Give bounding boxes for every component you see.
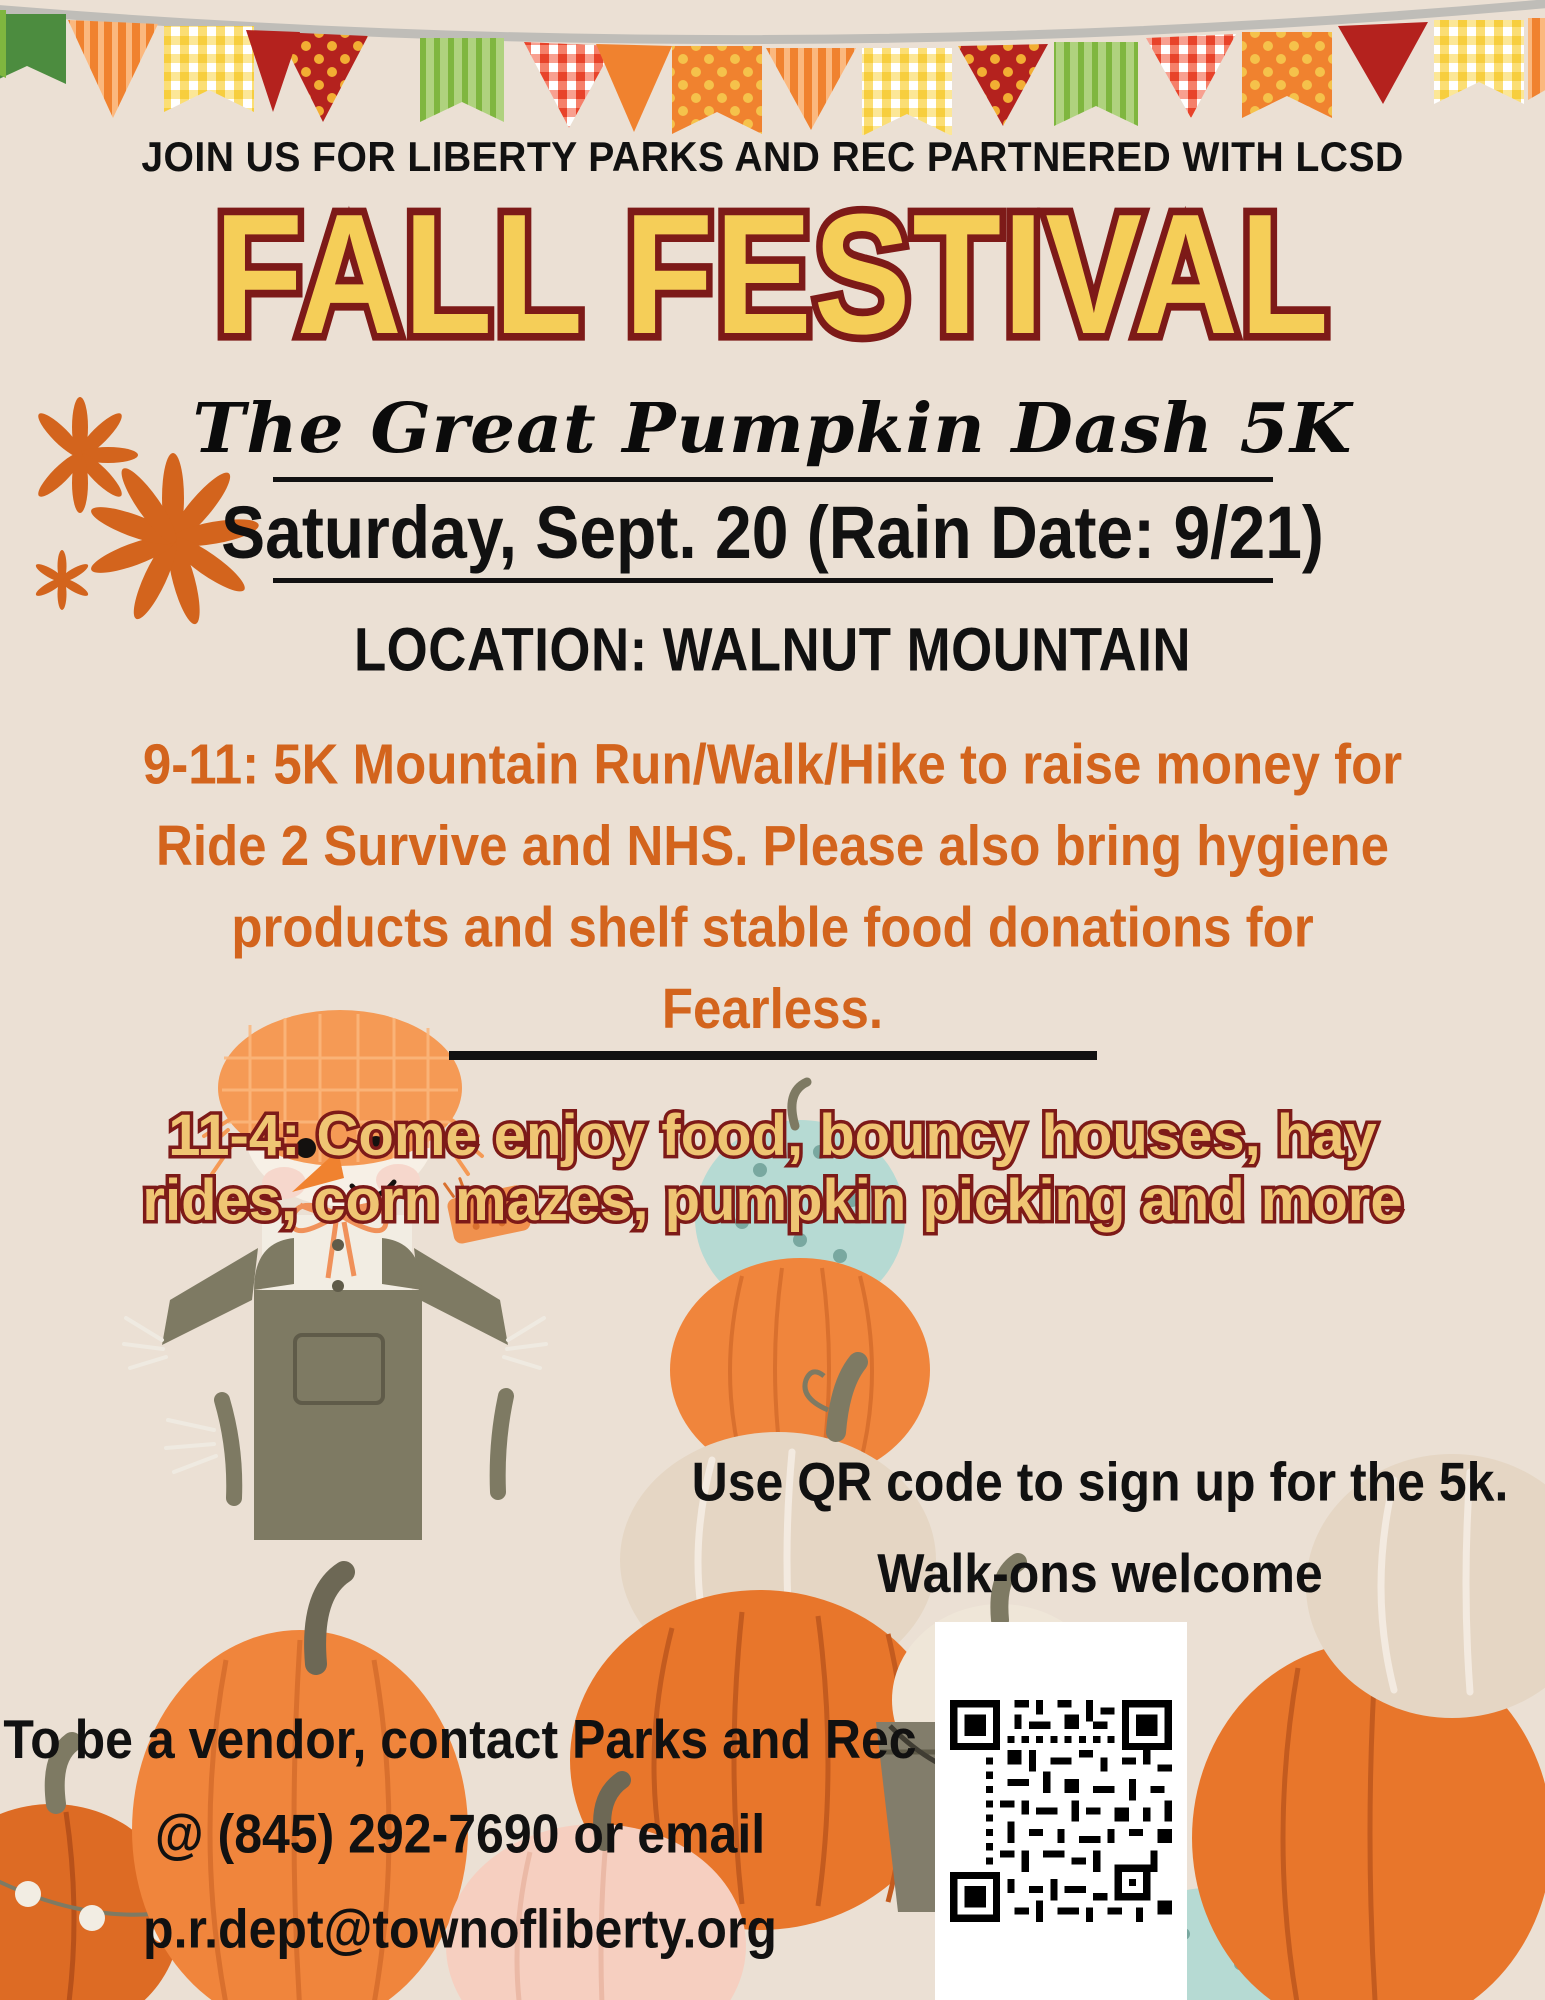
bunting-banner — [0, 0, 1545, 135]
poster-text-content: JOIN US FOR LIBERTY PARKS AND REC PARTNE… — [0, 0, 1545, 1234]
divider-below-date — [273, 578, 1273, 583]
date-line: Saturday, Sept. 20 (Rain Date: 9/21) — [0, 490, 1545, 575]
location-line: LOCATION: WALNUT MOUNTAIN — [31, 613, 1514, 685]
page-title: FALL FESTIVAL — [0, 190, 1545, 358]
fall-festival-flyer: JOIN US FOR LIBERTY PARKS AND REC PARTNE… — [0, 0, 1545, 2000]
qr-code[interactable] — [935, 1622, 1187, 2000]
vendor-contact-text: To be a vendor, contact Parks and Rec @ … — [0, 1692, 920, 1976]
script-subtitle: The Great Pumpkin Dash 5K — [0, 389, 1545, 469]
afternoon-schedule-text: 11-4: Come enjoy food, bouncy houses, ha… — [123, 1104, 1423, 1234]
morning-schedule-text: 9-11: 5K Mountain Run/Walk/Hike to raise… — [143, 724, 1403, 1049]
divider-above-afternoon — [449, 1051, 1097, 1060]
join-us-line: JOIN US FOR LIBERTY PARKS AND REC PARTNE… — [54, 133, 1491, 181]
divider-above-date — [273, 477, 1273, 482]
qr-instructions-text: Use QR code to sign up for the 5k. Walk-… — [690, 1437, 1510, 1619]
